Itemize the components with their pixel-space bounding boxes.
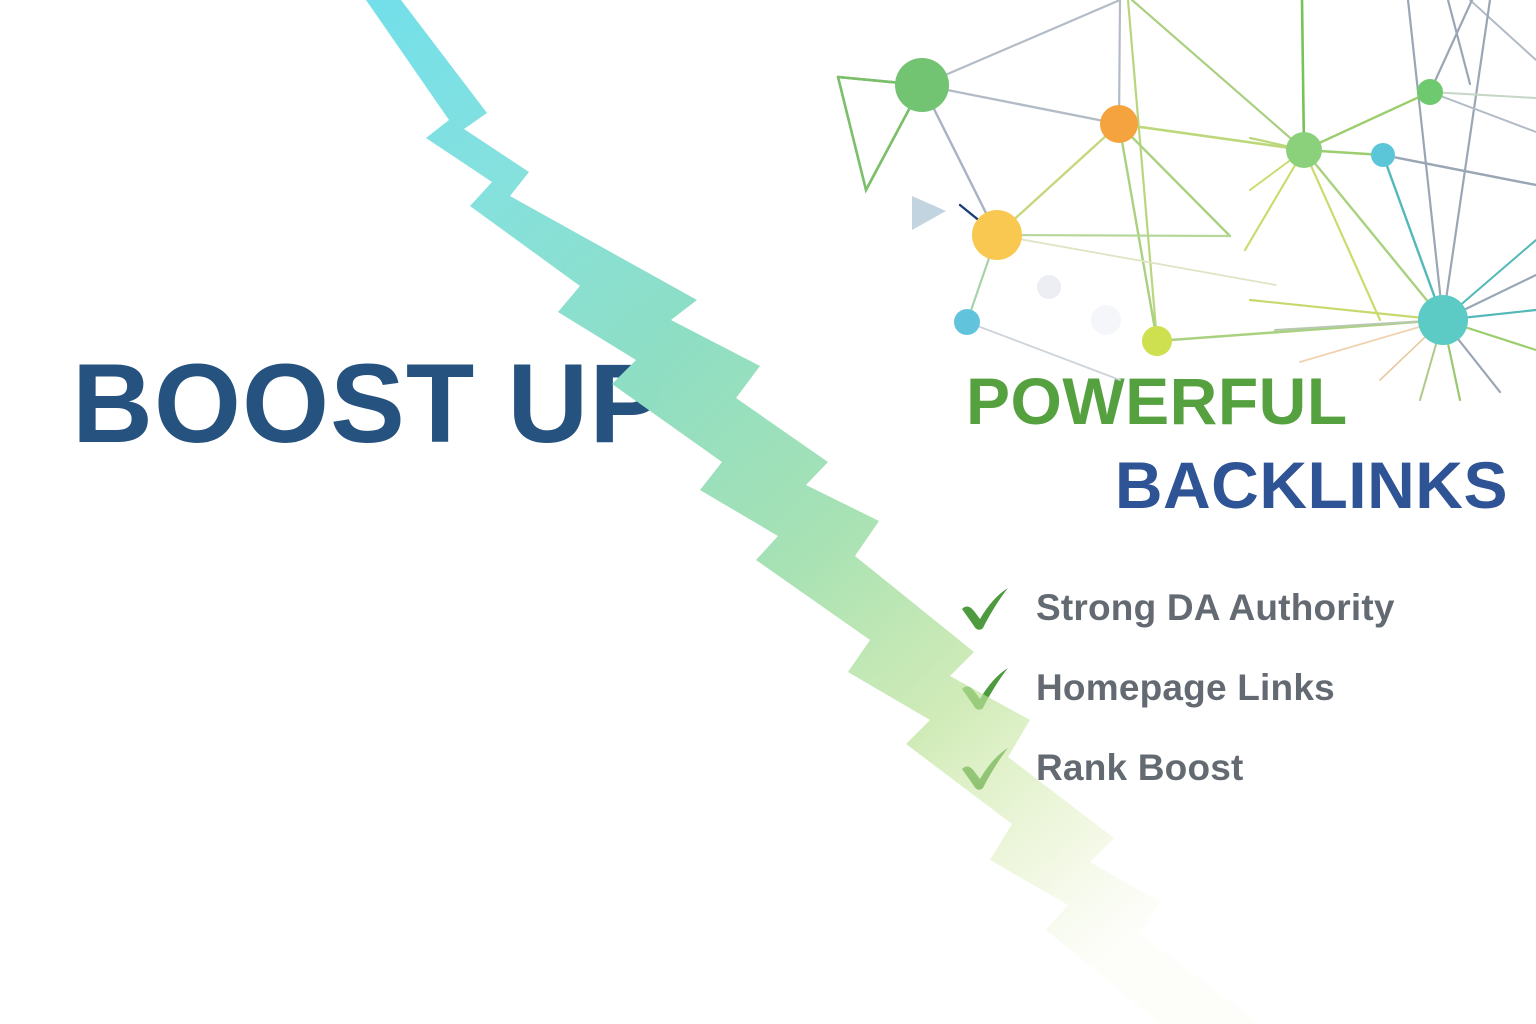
promo-banner: BOOST UP POWERFUL BACKLINKS Strong DA Au…: [0, 0, 1536, 1024]
lightning-bolt-icon: [0, 0, 1536, 1024]
